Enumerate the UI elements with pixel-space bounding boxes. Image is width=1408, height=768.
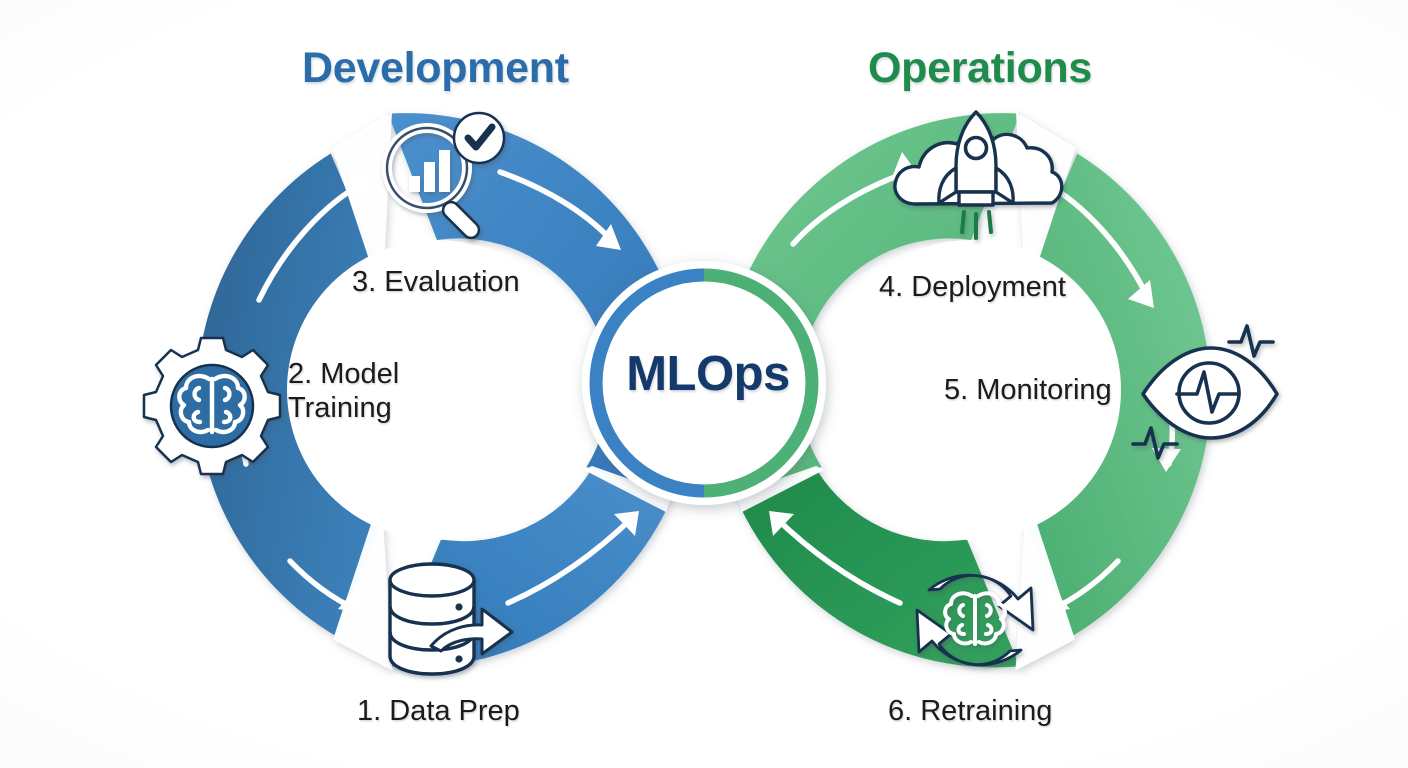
bar-chart-bar-3: [439, 150, 450, 192]
pulse-line-top: [1229, 326, 1273, 356]
step-label-deployment: 4. Deployment: [879, 271, 1066, 305]
rocket-window: [966, 138, 987, 159]
rocket-base: [959, 192, 993, 205]
center-label-mlops: MLOps: [618, 346, 798, 402]
step-label-data-prep: 1. Data Prep: [357, 695, 520, 729]
database-dot-1: [455, 603, 462, 610]
gear-brain-icon[interactable]: [144, 338, 280, 474]
diagram-canvas: Development Operations 3. Evaluation 2. …: [0, 0, 1408, 768]
step-label-monitoring: 5. Monitoring: [944, 374, 1112, 408]
database-dot-2: [455, 655, 462, 662]
heading-development: Development: [302, 44, 569, 93]
bar-chart-bar-2: [424, 162, 435, 192]
database-top-ellipse: [390, 564, 474, 596]
step-label-evaluation: 3. Evaluation: [352, 266, 520, 300]
bar-chart-bar-1: [409, 176, 420, 192]
step-label-model-training: 2. Model Training: [288, 358, 399, 426]
step-label-retraining: 6. Retraining: [888, 695, 1052, 729]
heading-operations: Operations: [868, 44, 1092, 93]
